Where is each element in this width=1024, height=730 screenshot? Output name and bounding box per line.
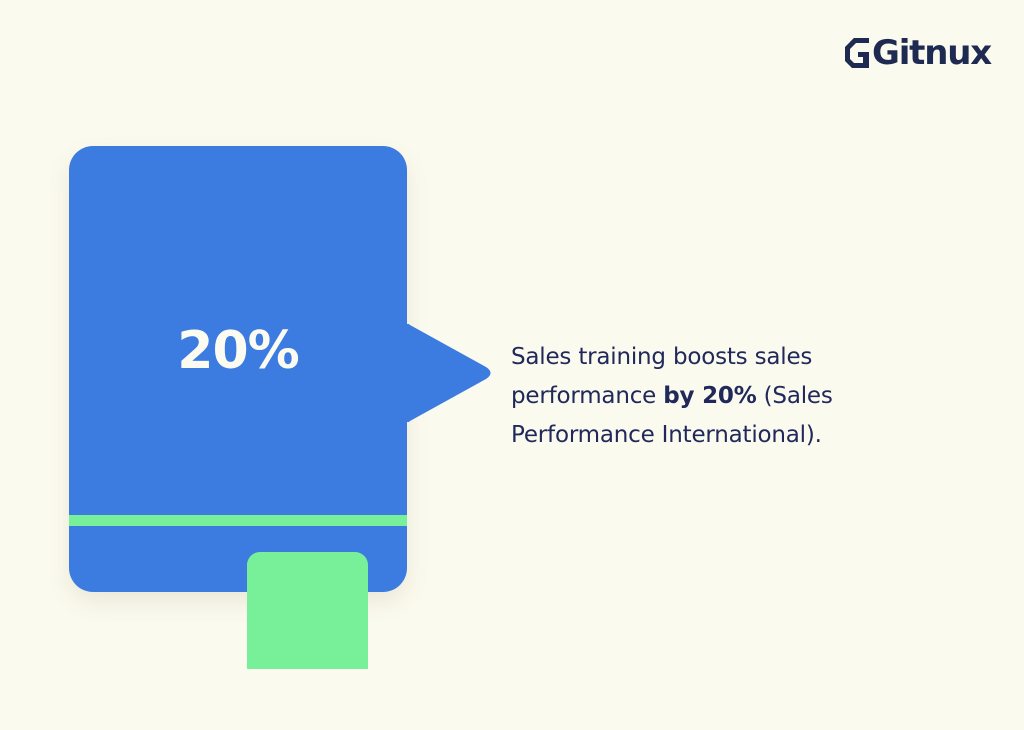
percentage-value: 20% xyxy=(69,325,407,377)
caption-text: Sales training boosts sales performance … xyxy=(511,338,883,455)
chart-baseline xyxy=(69,515,407,526)
caption-highlight: by 20% xyxy=(663,383,756,409)
gitnux-g-mark-icon xyxy=(845,38,871,68)
callout-pointer-icon xyxy=(406,322,492,424)
gitnux-logo: Gitnux xyxy=(845,33,991,73)
infographic-canvas: Gitnux 20% Sales training boosts sales p… xyxy=(0,0,1024,730)
bar-chart-bar xyxy=(247,552,368,669)
gitnux-wordmark: Gitnux xyxy=(872,36,991,70)
